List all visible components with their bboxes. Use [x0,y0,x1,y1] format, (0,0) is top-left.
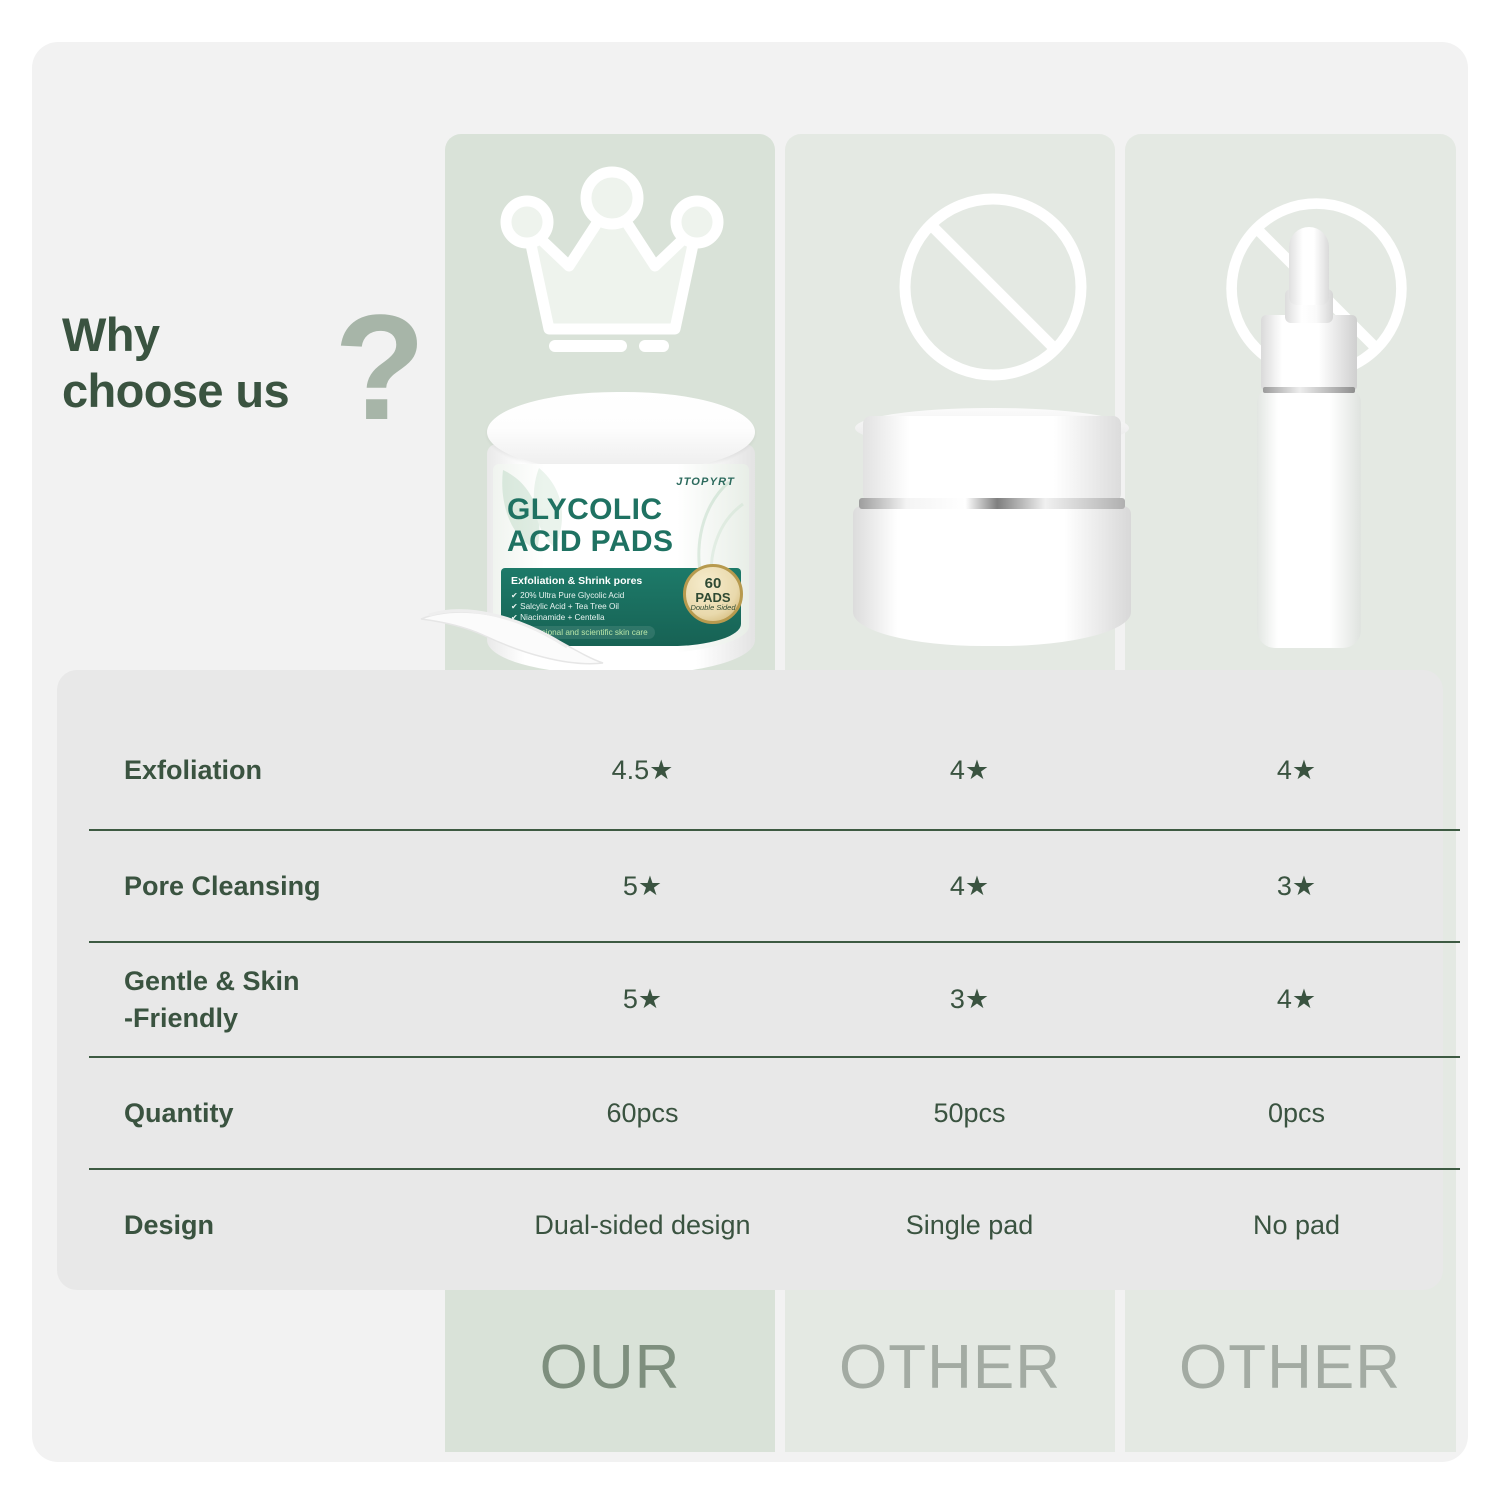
table-row: Quantity 60pcs 50pcs 0pcs [89,1056,1460,1168]
table-row: Exfoliation 4.5★ 4★ 4★ [89,712,1460,829]
comparison-table: Exfoliation 4.5★ 4★ 4★ Pore Cleansing 5★… [89,712,1460,1280]
brand-name: JTOPYRT [676,476,735,488]
badge-note: Double Sided [690,604,735,612]
cell-other1: 3★ [806,984,1133,1015]
jar-lid [487,392,755,472]
prohibition-icon-other1 [893,187,1093,387]
cell-our: 5★ [479,871,806,902]
crown-icon [487,154,737,364]
cell-our: Dual-sided design [479,1210,806,1241]
row-label: Gentle & Skin -Friendly [89,963,479,1037]
pads-count-badge: 60 PADS Double Sided [683,564,743,624]
cell-our: 4.5★ [479,755,806,786]
column-label-other2: OTHER [1125,1332,1455,1403]
row-label-line1: Exfoliation [124,752,479,789]
row-label: Design [89,1207,479,1244]
badge-unit: PADS [695,591,730,604]
table-row: Gentle & Skin -Friendly 5★ 3★ 4★ [89,941,1460,1056]
column-label-other1: OTHER [785,1332,1115,1403]
cell-other2: 4★ [1133,755,1460,786]
cell-other2: 3★ [1133,871,1460,902]
pad-wipe-icon [417,597,607,667]
page-title: Why choose us ? [62,307,442,419]
cell-other1: Single pad [806,1210,1133,1241]
product-title-line1: GLYCOLIC [507,494,735,526]
product-image-other1 [847,402,1137,672]
cell-other2: 0pcs [1133,1098,1460,1129]
dropper-bottle-cap [1261,315,1357,391]
row-label-line1: Design [124,1207,479,1244]
product-image-our: JTOPYRT GLYCOLIC ACID PADS Exfoliation &… [455,392,785,682]
dropper-bottle-body [1257,390,1361,648]
table-row: Pore Cleansing 5★ 4★ 3★ [89,829,1460,941]
row-label: Pore Cleansing [89,868,479,905]
row-label: Exfoliation [89,752,479,789]
cell-our: 5★ [479,984,806,1015]
cell-our: 60pcs [479,1098,806,1129]
row-label-line1: Gentle & Skin [124,963,479,1000]
column-label-our: OUR [445,1332,775,1403]
cell-other1: 50pcs [806,1098,1133,1129]
table-row: Design Dual-sided design Single pad No p… [89,1168,1460,1280]
product-title: GLYCOLIC ACID PADS [507,494,735,558]
product-image-other2 [1247,227,1387,672]
badge-count: 60 [705,577,722,591]
dropper-bulb [1289,227,1329,305]
cell-other1: 4★ [806,871,1133,902]
row-label-line2: -Friendly [124,1000,479,1037]
cream-jar-lid [863,416,1121,502]
row-label-line1: Pore Cleansing [124,868,479,905]
cream-jar-body [853,506,1131,646]
dropper-bottle-ring [1263,387,1355,393]
question-mark-icon: ? [334,292,426,442]
cell-other2: No pad [1133,1210,1460,1241]
cell-other1: 4★ [806,755,1133,786]
row-label: Quantity [89,1095,479,1132]
product-title-line2: ACID PADS [507,526,735,558]
row-label-line1: Quantity [124,1095,479,1132]
infographic-card: Why choose us ? JTOPYRT [32,42,1468,1462]
cell-other2: 4★ [1133,984,1460,1015]
cream-jar-silver-band [859,498,1125,509]
